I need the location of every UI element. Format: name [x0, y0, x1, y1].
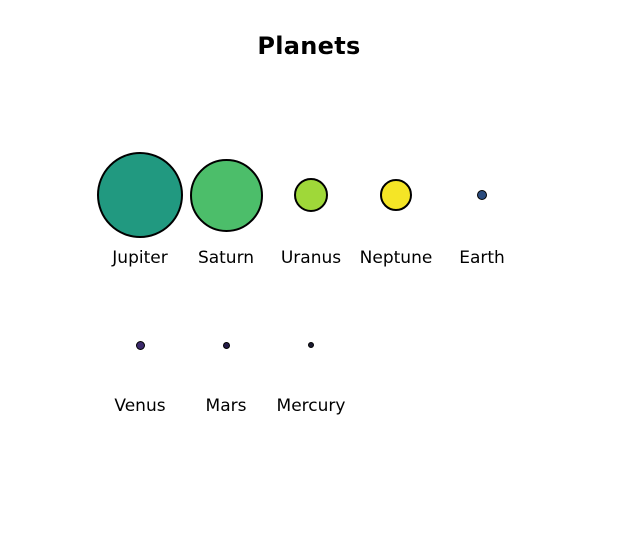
bubble-label: Uranus: [281, 250, 341, 267]
bubble-marker[interactable]: [136, 341, 145, 350]
bubble-marker[interactable]: [97, 152, 183, 238]
bubble-marker[interactable]: [308, 342, 314, 348]
bubble-marker[interactable]: [294, 178, 328, 212]
bubble-label: Neptune: [360, 250, 433, 267]
chart-title: Planets: [0, 32, 618, 60]
bubble-marker[interactable]: [223, 342, 230, 349]
bubble-marker[interactable]: [190, 159, 263, 232]
bubble-marker[interactable]: [477, 190, 487, 200]
bubble-label: Earth: [459, 250, 505, 267]
chart-canvas: Planets JupiterSaturnUranusNeptuneEarthV…: [0, 0, 618, 543]
bubble-label: Mars: [206, 398, 247, 415]
bubble-label: Jupiter: [112, 250, 167, 267]
bubble-label: Mercury: [277, 398, 346, 415]
bubble-marker[interactable]: [380, 179, 412, 211]
bubble-label: Saturn: [198, 250, 254, 267]
bubble-label: Venus: [114, 398, 165, 415]
